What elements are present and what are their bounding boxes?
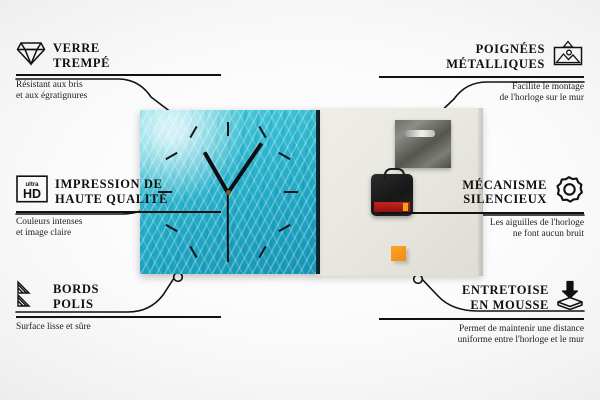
center-pin [226, 190, 231, 195]
ultra-hd-icon: ultra HD [16, 175, 48, 208]
feature-description: Permet de maintenir une distance uniform… [379, 324, 584, 347]
feature-description: Les aiguilles de l'horloge ne font aucun… [379, 218, 584, 241]
title-line-2: SILENCIEUX [462, 192, 547, 207]
polished-edge-icon [16, 280, 46, 313]
tick-12 [227, 122, 229, 136]
title-line-1: BORDS [53, 282, 99, 297]
desc-line-1: Résistant aux bris [16, 80, 221, 91]
feature-header: POIGNÉES MÉTALLIQUES [379, 40, 584, 73]
feature-header: VERRE TREMPÉ [16, 40, 221, 71]
desc-line-1: Couleurs intenses [16, 217, 221, 228]
title-line-2: MÉTALLIQUES [446, 57, 545, 72]
title-line-1: MÉCANISME [462, 178, 547, 193]
title-line-1: POIGNÉES [446, 42, 545, 57]
feature-description: Résistant aux bris et aux égratignures [16, 80, 221, 103]
tick-2 [278, 152, 290, 160]
desc-line-2: et aux égratignures [16, 91, 221, 102]
foam-spacer-icon [556, 280, 584, 315]
desc-line-1: Permet de maintenir une distance [379, 324, 584, 335]
feature-bords-polis: BORDS POLIS Surface lisse et sûre [16, 280, 221, 333]
feature-impression-haute-qualite: ultra HD IMPRESSION DE HAUTE QUALITÉ Cou… [16, 175, 221, 239]
tick-11 [189, 126, 197, 138]
picture-hanger-icon [552, 40, 584, 73]
gear-icon [554, 175, 584, 209]
feature-header: ENTRETOISE EN MOUSSE [379, 280, 584, 315]
feature-mecanisme-silencieux: MÉCANISME SILENCIEUX Les aiguilles de l'… [379, 175, 584, 240]
feature-description: Facilite le montage de l'horloge sur le … [379, 82, 584, 105]
desc-line-2: uniforme entre l'horloge et le mur [379, 335, 584, 346]
feature-poignees-metalliques: POIGNÉES MÉTALLIQUES Facilite le montage… [379, 40, 584, 104]
divider [16, 74, 221, 76]
feature-title: MÉCANISME SILENCIEUX [462, 178, 547, 207]
title-line-1: VERRE [53, 41, 110, 56]
feature-title: ENTRETOISE EN MOUSSE [462, 283, 549, 312]
tick-6 [227, 248, 229, 262]
hanger-slot [405, 130, 435, 137]
divider [16, 211, 221, 213]
tick-10 [165, 152, 177, 160]
tick-3 [284, 191, 298, 193]
feature-verre-trempe: VERRE TREMPÉ Résistant aux bris et aux é… [16, 40, 221, 102]
feature-title: IMPRESSION DE HAUTE QUALITÉ [55, 177, 168, 206]
tick-7 [189, 246, 197, 258]
desc-line-2: ne font aucun bruit [379, 229, 584, 240]
title-line-2: POLIS [53, 297, 99, 312]
tick-4 [278, 224, 290, 232]
divider [379, 318, 584, 320]
desc-line-2: et image claire [16, 228, 221, 239]
tick-5 [258, 246, 266, 258]
desc-line-1: Surface lisse et sûre [16, 322, 221, 333]
feature-title: POIGNÉES MÉTALLIQUES [446, 42, 545, 71]
infographic-canvas: VERRE TREMPÉ Résistant aux bris et aux é… [0, 0, 600, 400]
title-line-1: ENTRETOISE [462, 283, 549, 298]
divider [379, 76, 584, 78]
desc-line-2: de l'horloge sur le mur [379, 93, 584, 104]
feature-description: Surface lisse et sûre [16, 322, 221, 333]
title-line-2: EN MOUSSE [462, 298, 549, 313]
second-hand [227, 193, 229, 249]
divider [379, 212, 584, 214]
divider [16, 316, 221, 318]
feature-title: BORDS POLIS [53, 282, 99, 311]
feature-header: BORDS POLIS [16, 280, 221, 313]
title-line-2: TREMPÉ [53, 56, 110, 71]
minute-hand [226, 142, 263, 194]
foam-spacer-square [391, 246, 406, 261]
feature-entretoise-en-mousse: ENTRETOISE EN MOUSSE Permet de maintenir… [379, 280, 584, 346]
title-line-2: HAUTE QUALITÉ [55, 192, 168, 207]
metal-hanger-plate [395, 120, 451, 168]
desc-line-1: Facilite le montage [379, 82, 584, 93]
feature-description: Couleurs intenses et image claire [16, 217, 221, 240]
hd-label: HD [23, 187, 41, 201]
title-line-1: IMPRESSION DE [55, 177, 168, 192]
feature-header: MÉCANISME SILENCIEUX [379, 175, 584, 209]
tick-1 [258, 126, 266, 138]
feature-header: ultra HD IMPRESSION DE HAUTE QUALITÉ [16, 175, 221, 208]
feature-title: VERRE TREMPÉ [53, 41, 110, 70]
desc-line-1: Les aiguilles de l'horloge [379, 218, 584, 229]
diamond-icon [16, 40, 46, 71]
